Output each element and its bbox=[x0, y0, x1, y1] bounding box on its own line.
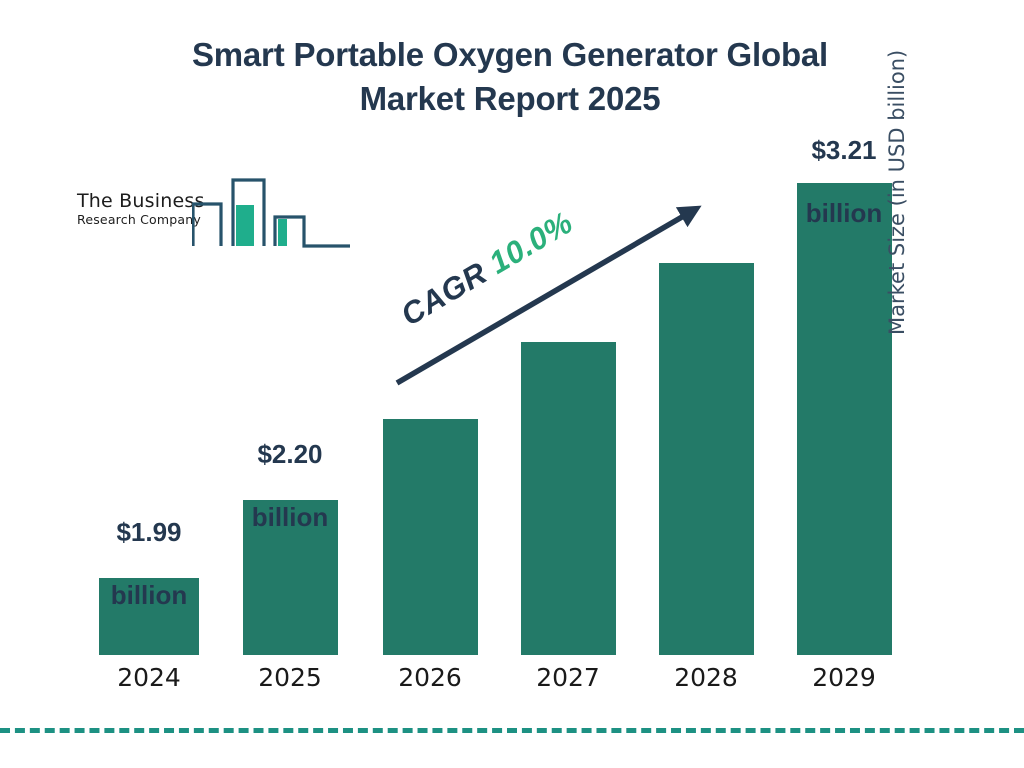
footer-divider bbox=[0, 728, 1024, 733]
chart-canvas: Smart Portable Oxygen Generator Global M… bbox=[0, 0, 1024, 768]
y-axis-title: Market Size (in USD billion) bbox=[885, 15, 909, 335]
cagr-arrow-icon bbox=[0, 0, 1024, 768]
bar-chart-plot: $1.99 billion $2.20 billion $3.21 billio… bbox=[0, 0, 1024, 768]
